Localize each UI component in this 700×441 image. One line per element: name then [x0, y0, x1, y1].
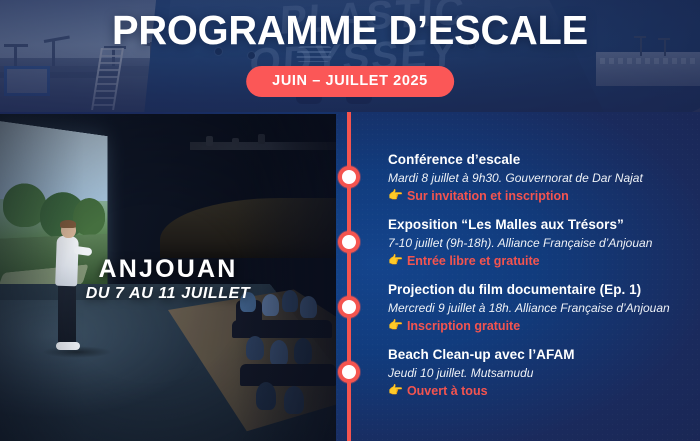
- pointing-hand-icon: 👉: [388, 319, 403, 331]
- timeline-dot: [338, 296, 360, 318]
- conference-photo: ANJOUAN DU 7 AU 11 JUILLET: [0, 114, 336, 441]
- pointing-hand-icon: 👉: [388, 254, 403, 266]
- event-meta: Jeudi 10 juillet. Mutsamudu: [388, 365, 688, 381]
- event-cta: 👉 Sur invitation et inscription: [388, 188, 688, 204]
- event-item[interactable]: Beach Clean-up avec l’AFAM Jeudi 10 juil…: [388, 346, 688, 399]
- location-name: ANJOUAN: [0, 255, 336, 283]
- event-cta-label: Inscription gratuite: [407, 318, 520, 334]
- event-title: Conférence d’escale: [388, 151, 688, 168]
- timeline-dot: [338, 166, 360, 188]
- event-cta: 👉 Entrée libre et gratuite: [388, 253, 688, 269]
- event-title: Projection du film documentaire (Ep. 1): [388, 281, 688, 298]
- date-range-badge: JUIN – JUILLET 2025: [246, 66, 454, 97]
- page-title: PROGRAMME D’ESCALE: [11, 8, 690, 52]
- photo-caption: ANJOUAN DU 7 AU 11 JUILLET: [0, 255, 336, 304]
- event-cta-label: Sur invitation et inscription: [407, 188, 569, 204]
- event-item[interactable]: Exposition “Les Malles aux Trésors” 7-10…: [388, 216, 688, 269]
- pointing-hand-icon: 👉: [388, 384, 403, 396]
- event-title: Beach Clean-up avec l’AFAM: [388, 346, 688, 363]
- event-title: Exposition “Les Malles aux Trésors”: [388, 216, 688, 233]
- location-dates: DU 7 AU 11 JUILLET: [0, 283, 336, 304]
- timeline-dot: [338, 361, 360, 383]
- event-cta: 👉 Ouvert à tous: [388, 383, 688, 399]
- pointing-hand-icon: 👉: [388, 189, 403, 201]
- escale-program-poster: PLASTIC ODYSSEY PROGRAMME D’ESCALE JUIN …: [0, 0, 700, 441]
- event-item[interactable]: Conférence d’escale Mardi 8 juillet à 9h…: [388, 151, 688, 204]
- event-cta-label: Entrée libre et gratuite: [407, 253, 540, 269]
- timeline-dot: [338, 231, 360, 253]
- event-cta: 👉 Inscription gratuite: [388, 318, 688, 334]
- event-meta: 7-10 juillet (9h-18h). Alliance Français…: [388, 235, 688, 251]
- event-item[interactable]: Projection du film documentaire (Ep. 1) …: [388, 281, 688, 334]
- event-meta: Mardi 8 juillet à 9h30. Gouvernorat de D…: [388, 170, 688, 186]
- hero-banner: PLASTIC ODYSSEY PROGRAMME D’ESCALE JUIN …: [0, 0, 700, 112]
- event-cta-label: Ouvert à tous: [407, 383, 488, 399]
- event-meta: Mercredi 9 juillet à 18h. Alliance Franç…: [388, 300, 688, 316]
- timeline-axis: [347, 112, 351, 441]
